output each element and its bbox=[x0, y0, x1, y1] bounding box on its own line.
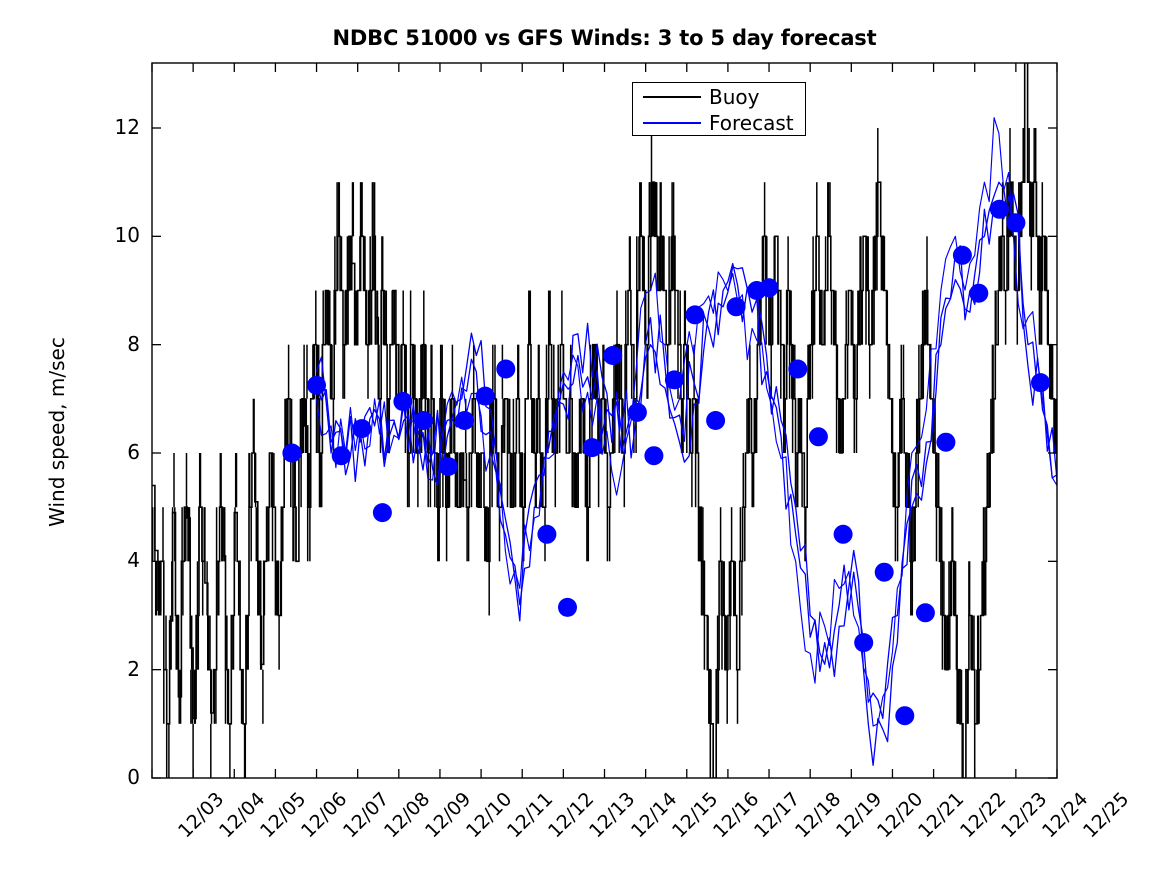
y-tick-label: 10 bbox=[100, 223, 140, 247]
plot-area bbox=[0, 0, 1167, 875]
legend-swatch-forecast bbox=[643, 122, 701, 124]
y-tick-label: 12 bbox=[100, 115, 140, 139]
figure-canvas: NDBC 51000 vs GFS Winds: 3 to 5 day fore… bbox=[0, 0, 1167, 875]
legend: Buoy Forecast bbox=[632, 82, 806, 136]
y-tick-label: 0 bbox=[100, 765, 140, 789]
y-tick-label: 2 bbox=[100, 657, 140, 681]
legend-item-forecast: Forecast bbox=[633, 109, 805, 136]
legend-label-buoy: Buoy bbox=[709, 87, 759, 107]
legend-item-buoy: Buoy bbox=[633, 83, 805, 110]
y-tick-label: 6 bbox=[100, 440, 140, 464]
y-tick-label: 4 bbox=[100, 548, 140, 572]
legend-swatch-buoy bbox=[643, 96, 701, 98]
y-tick-label: 8 bbox=[100, 332, 140, 356]
legend-label-forecast: Forecast bbox=[709, 113, 794, 133]
